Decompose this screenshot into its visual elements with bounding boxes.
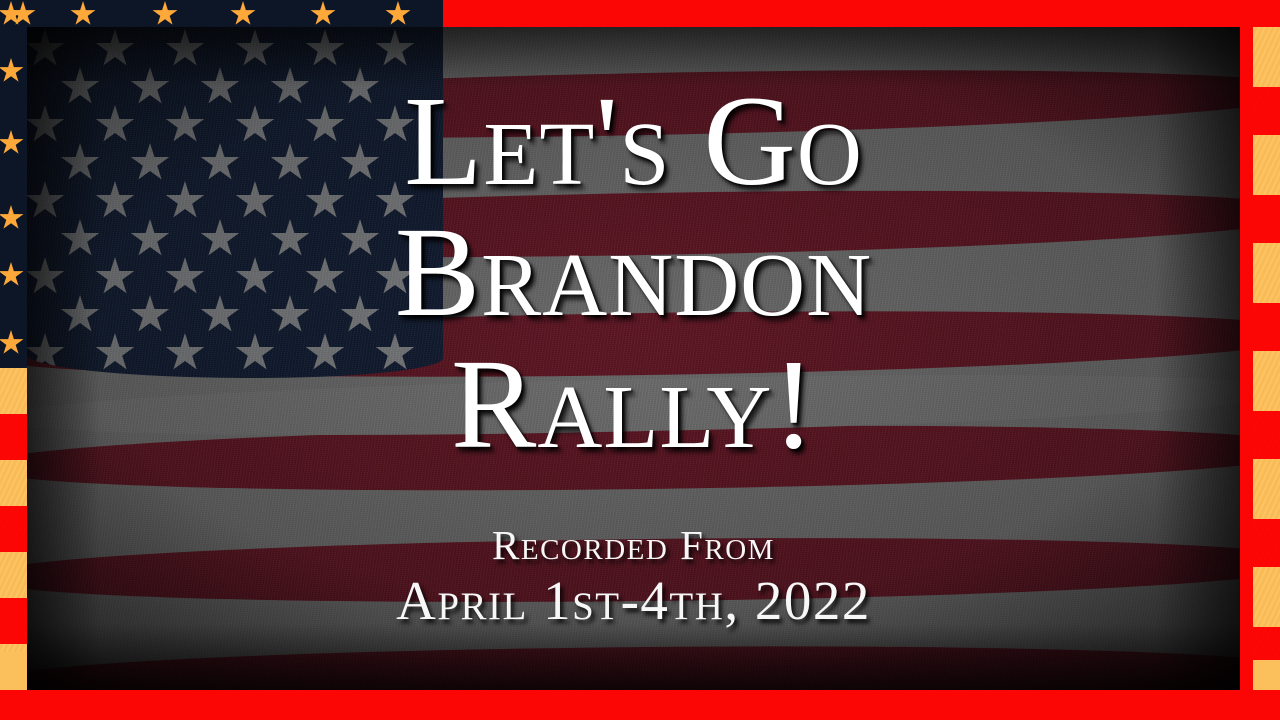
gray-star-icon <box>305 181 345 221</box>
gray-star-icon <box>130 219 170 259</box>
gray-star-icon <box>60 295 100 335</box>
gray-star-icon <box>270 219 310 259</box>
gray-star-icon <box>130 67 170 107</box>
gray-star-icon <box>60 67 100 107</box>
gray-star-icon <box>95 333 135 373</box>
gray-star-icon <box>165 29 205 69</box>
border-bottom-red-band <box>0 690 1280 720</box>
gray-star-icon <box>305 333 345 373</box>
gray-star-icon <box>95 257 135 297</box>
flag-background-image: Let's Go Brandon Rally! Recorded From Ap… <box>27 27 1240 690</box>
gray-star-icon <box>375 105 415 145</box>
gray-star-icon <box>165 105 205 145</box>
gray-star-icon <box>235 105 275 145</box>
border-bottom-right-gold-block <box>1253 660 1280 690</box>
gray-star-icon <box>375 257 415 297</box>
gray-star-icon <box>27 105 65 145</box>
gray-star-icon <box>60 143 100 183</box>
gray-star-icon <box>235 29 275 69</box>
gray-star-icon <box>270 67 310 107</box>
gray-star-icon <box>200 67 240 107</box>
gray-star-icon <box>270 295 310 335</box>
gray-star-icon <box>235 257 275 297</box>
gray-star-icon <box>340 67 380 107</box>
gray-star-icon <box>95 29 135 69</box>
gray-star-icon <box>375 181 415 221</box>
gray-star-icon <box>95 105 135 145</box>
gray-star-icon <box>305 257 345 297</box>
flag-canton <box>27 27 443 378</box>
gray-star-icon <box>340 143 380 183</box>
gray-star-icon <box>27 257 65 297</box>
gray-star-icon <box>200 143 240 183</box>
gray-star-icon <box>95 181 135 221</box>
gray-star-icon <box>305 105 345 145</box>
gray-star-icon <box>375 29 415 69</box>
gray-star-icon <box>60 219 100 259</box>
gray-star-icon <box>130 295 170 335</box>
gray-star-icon <box>235 181 275 221</box>
gray-star-icon <box>27 29 65 69</box>
gray-star-icon <box>165 257 205 297</box>
border-left-navy-field <box>0 0 27 368</box>
gray-star-icon <box>200 295 240 335</box>
border-top-navy-field <box>0 0 443 27</box>
border-bottom-left-gold-block <box>0 652 27 690</box>
gray-star-icon <box>340 295 380 335</box>
poster-canvas: Let's Go Brandon Rally! Recorded From Ap… <box>0 0 1280 720</box>
gray-star-icon <box>235 333 275 373</box>
gray-star-icon <box>165 333 205 373</box>
gray-star-icon <box>270 143 310 183</box>
gray-star-icon <box>200 219 240 259</box>
gray-star-icon <box>340 219 380 259</box>
border-right-stripes <box>1253 27 1280 690</box>
gray-star-icon <box>165 181 205 221</box>
gray-star-icon <box>305 29 345 69</box>
gray-star-icon <box>130 143 170 183</box>
gray-star-icon <box>375 333 415 373</box>
gray-star-icon <box>27 181 65 221</box>
